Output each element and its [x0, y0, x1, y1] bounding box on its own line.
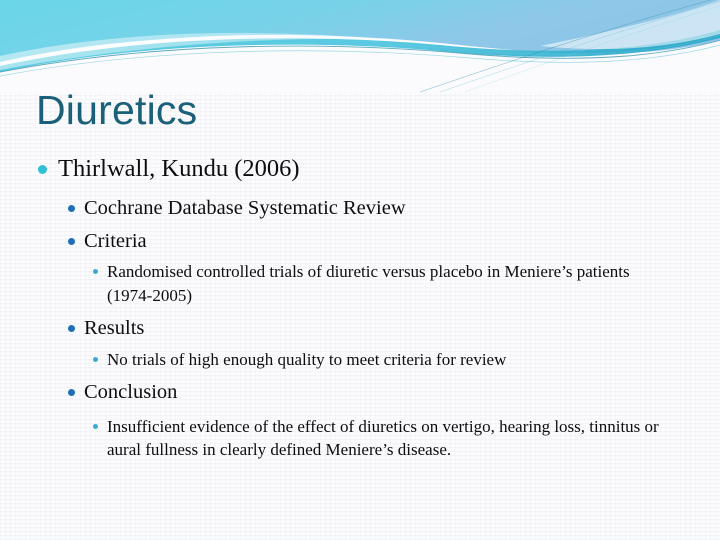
bullet-text: Randomised controlled trials of diuretic…: [107, 260, 662, 307]
bullet-item-level3: No trials of high enough quality to meet…: [30, 348, 700, 371]
bullet-text: Thirlwall, Kundu (2006): [58, 154, 300, 185]
bullet-dot-level2: [68, 389, 75, 396]
bullet-item-level3: Randomised controlled trials of diuretic…: [30, 260, 700, 307]
bullet-item-level2: Cochrane Database Systematic Review: [30, 195, 700, 222]
bullet-text: Conclusion: [84, 379, 177, 406]
bullet-dot-level3: [93, 357, 98, 362]
bullet-dot-level2: [68, 205, 75, 212]
bullet-dot-level2: [68, 325, 75, 332]
bullet-text: Cochrane Database Systematic Review: [84, 195, 406, 222]
bullet-item-level2: Results: [30, 315, 700, 342]
slide-body: Thirlwall, Kundu (2006) Cochrane Databas…: [30, 154, 700, 464]
bullet-text: Results: [84, 315, 144, 342]
bullet-text: Criteria: [84, 228, 147, 255]
bullet-item-level2: Criteria: [30, 228, 700, 255]
slide-title: Diuretics: [36, 88, 197, 133]
bullet-text: No trials of high enough quality to meet…: [107, 348, 506, 371]
header-wave-banner: [0, 0, 720, 92]
bullet-text: Insufficient evidence of the effect of d…: [107, 415, 662, 462]
bullet-dot-level1: [38, 165, 47, 174]
bullet-item-level2: Conclusion: [30, 379, 700, 406]
bullet-dot-level2: [68, 238, 75, 245]
bullet-item-level1: Thirlwall, Kundu (2006): [30, 154, 700, 185]
bullet-dot-level3: [93, 424, 98, 429]
bullet-item-level3: Insufficient evidence of the effect of d…: [30, 415, 700, 462]
slide: Diuretics Thirlwall, Kundu (2006) Cochra…: [0, 0, 720, 540]
bullet-dot-level3: [93, 269, 98, 274]
